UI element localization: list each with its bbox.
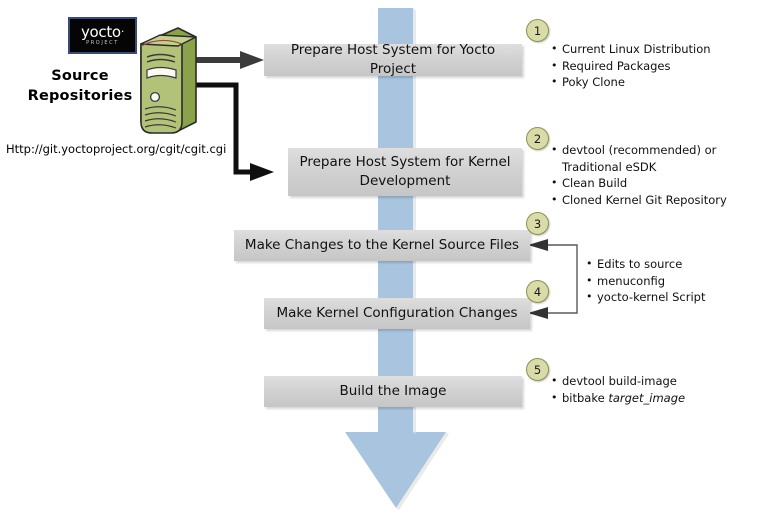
step-1-bullets: Current Linux Distribution Required Pack… [551, 41, 711, 91]
source-label-line2: Repositories [20, 86, 140, 106]
steps-3-4-bullet-3: yocto-kernel Script [586, 289, 706, 306]
source-label-line1: Source [20, 66, 140, 86]
step-5-box[interactable]: Build the Image [264, 376, 522, 407]
step-1-bullet-1: Current Linux Distribution [551, 41, 711, 58]
step-2-box[interactable]: Prepare Host System for Kernel Developme… [288, 148, 522, 196]
step-2-box-label-line1: Prepare Host System for Kernel [299, 153, 510, 172]
step-5-bullet-1: devtool build-image [551, 373, 685, 390]
step-5-bullet-2-target: target_image [608, 391, 685, 405]
yocto-project-logo: yocto· PROJECT [68, 17, 137, 54]
step-5-badge: 5 [526, 358, 549, 381]
connector-server-to-step2 [196, 85, 274, 181]
step-2-bullets: devtool (recommended) or Traditional eSD… [551, 142, 727, 208]
step-4-box-label: Make Kernel Configuration Changes [276, 304, 517, 323]
step-2-number: 2 [534, 132, 541, 146]
step-2-bullet-3: Cloned Kernel Git Repository [551, 192, 727, 209]
server-tower-icon [141, 28, 196, 133]
step-4-number: 4 [534, 285, 541, 299]
connector-server-to-step1 [196, 51, 264, 69]
source-repositories-label: Source Repositories [20, 66, 140, 106]
step-1-bullet-3: Poky Clone [551, 74, 711, 91]
step-1-box[interactable]: Prepare Host System for Yocto Project [264, 44, 522, 76]
step-5-bullet-2-command: bitbake [562, 391, 608, 405]
step-2-badge: 2 [526, 127, 549, 150]
steps-3-4-bullet-2: menuconfig [586, 273, 706, 290]
step-3-number: 3 [534, 217, 541, 231]
step-4-box[interactable]: Make Kernel Configuration Changes [264, 298, 530, 329]
connector-feedback-bracket [528, 239, 577, 319]
step-2-bullet-1: devtool (recommended) or [551, 142, 727, 159]
yocto-logo-dot: · [121, 25, 124, 38]
steps-3-4-bullet-1: Edits to source [586, 256, 706, 273]
step-1-number: 1 [534, 24, 541, 38]
step-1-bullet-2: Required Packages [551, 58, 711, 75]
step-2-bullet-2: Clean Build [551, 175, 727, 192]
source-repositories-url: Http://git.yoctoproject.org/cgit/cgit.cg… [6, 142, 226, 156]
step-1-badge: 1 [526, 19, 549, 42]
step-3-box[interactable]: Make Changes to the Kernel Source Files [234, 230, 530, 261]
yocto-logo-subtitle: PROJECT [86, 40, 119, 47]
step-3-badge: 3 [526, 212, 549, 235]
step-5-number: 5 [534, 363, 541, 377]
step-5-bullets: devtool build-image bitbake target_image [551, 373, 685, 406]
step-5-bullet-2: bitbake target_image [551, 390, 685, 407]
step-4-badge: 4 [526, 280, 549, 303]
kernel-development-workflow-diagram: yocto· PROJECT Source Repositories Http:… [0, 0, 769, 517]
step-1-box-label: Prepare Host System for Yocto Project [272, 41, 514, 79]
step-5-box-label: Build the Image [340, 382, 447, 401]
step-2-box-label-line2: Development [360, 172, 451, 191]
steps-3-4-bullets: Edits to source menuconfig yocto-kernel … [586, 256, 706, 306]
step-3-box-label: Make Changes to the Kernel Source Files [245, 236, 519, 255]
yocto-logo-wordmark: yocto· [81, 25, 124, 39]
step-2-bullet-1-continuation: Traditional eSDK [551, 159, 727, 176]
